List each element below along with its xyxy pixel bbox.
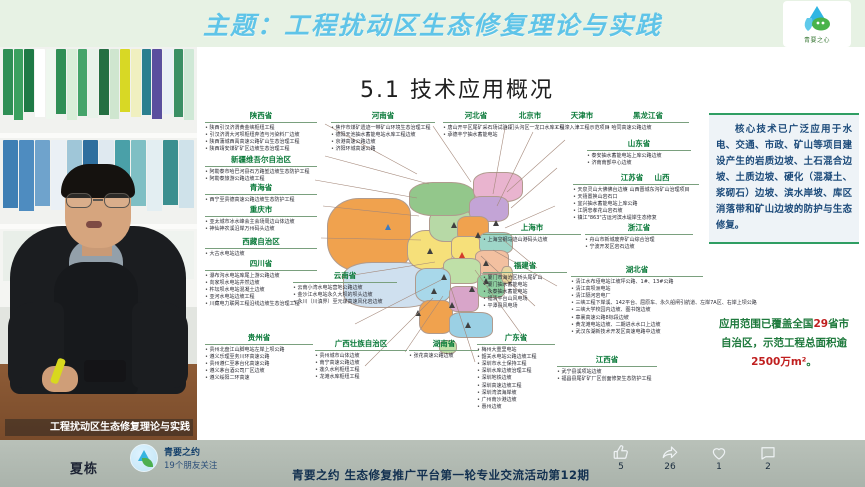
- list-item: 大古水电站边坡: [205, 251, 317, 258]
- list-item: 厦门抽水蓄能电站: [483, 282, 567, 289]
- callout-henan: 河南省 焦作市煤矿遗迹一带矿山环境生态治理工程 德阳天池抽水蓄能电站水库工程边坡…: [331, 110, 435, 153]
- list-item: 承德丰宁抽水蓄能电站: [443, 132, 509, 139]
- list-item: 云南小湾水电站营地公路边坡: [293, 285, 397, 292]
- speaker-figure: [8, 126, 188, 394]
- list-item: 深圳湾滨海岸坡: [477, 390, 555, 397]
- channel-name: 青要之约: [164, 445, 217, 458]
- list-item: 焦作市煤矿遗迹一带矿山环境生态治理工程: [331, 125, 435, 132]
- list-item: 深圳高速边坡工程: [477, 383, 555, 390]
- core-technology-panel: 核心技术已广泛应用于水电、交通、市政、矿山等项目建设产生的岩质边坡、土石混合边坡…: [709, 113, 859, 244]
- presentation-slide[interactable]: 5.1 技术应用概况: [197, 47, 865, 440]
- coverage-text: 应用范围已覆盖全国29省市自治区，示范工程总面积逾2500万m²。: [715, 315, 853, 372]
- list-item: 济阳环城高速公路: [331, 146, 435, 153]
- callout-hubei: 湖北省 清江水布垭电站江坡坪公路、1#、13#公路 清江高坝洲电站 清江隔河岩电…: [571, 264, 703, 336]
- thumbs-up-button[interactable]: 5: [612, 444, 630, 462]
- list-item: 三峡大学校园内边坡、图书馆边坡: [571, 307, 703, 314]
- avatar[interactable]: [130, 444, 158, 472]
- list-item: 韶关水电站公路边坡工程: [477, 354, 555, 361]
- list-item: 遵义乐理至务川环高速公路: [205, 354, 313, 361]
- comment-count: 2: [758, 462, 778, 472]
- list-item: 泰安抽水蓄能电站上库公路边坡: [587, 153, 691, 160]
- list-item: 西宁至贵德高速公路边坡生态防护工程: [205, 197, 317, 204]
- list-item: 引滦入津工程示范项目: [555, 125, 609, 132]
- callout-xinjiang: 新疆维吾尔自治区 阿勒泰市哈巴河县石方路堑边坡生态防护工程 阿勒泰旅游公路边坡工…: [205, 154, 317, 183]
- callout-jiangsu: 江苏省 天泉灵山大佛佛台边坡 天禧置换山岩石口 宜兴抽水蓄能电站上库公路 江阴忠…: [573, 172, 691, 223]
- coverage-province-count: 29: [813, 318, 828, 330]
- action-bar: 5 26 1 2: [612, 444, 777, 462]
- thumbs-up-count: 5: [611, 462, 631, 472]
- list-item: 亚太城市冰水峰会主会场周边山体边坡: [205, 219, 317, 226]
- callout-qinghai: 青海省 西宁至贵德高速公路边坡生态防护工程: [205, 182, 317, 204]
- list-item: 神仙神农溪沿岸万州码头边坡: [205, 226, 317, 233]
- top-banner: 主题：工程扰动区生态修复理论与实践 青要之心: [0, 0, 865, 47]
- callout-hunan: 湖南省 张花高速公路边坡: [409, 338, 479, 360]
- list-item: 贵州北盘江山脚电站左岸上坝公路: [205, 347, 313, 354]
- list-item: 平潭县风电场: [483, 303, 567, 310]
- event-title: 青要之约 生态修复推广平台第一轮专业交流活动第12期: [292, 467, 590, 483]
- list-item: 贵州城市山体边坡: [315, 353, 407, 360]
- list-item: 舟山市新城废弃矿山综合治理: [585, 237, 693, 244]
- bottom-bar: 夏栋 青要之约 19个朋友关注 青要之约 生态修复推广平台第一轮专业交流活动第1…: [0, 440, 865, 487]
- list-item: 宁波开发区岩石边坡: [585, 244, 693, 251]
- list-item: 龙滩水库枢纽工程: [315, 374, 407, 381]
- right-arm: [132, 302, 188, 388]
- callout-guangxi: 广西壮族自治区 贵州城市山体边坡 南宁高速公路边坡 莲久水利枢纽工程 龙滩水库枢…: [315, 338, 407, 381]
- coverage-end: 。: [806, 356, 817, 368]
- list-item: 引汉济渭大河坝枢纽弃渣与污染料厂边坡: [205, 132, 317, 139]
- list-item: 南宁高速公路边坡: [315, 360, 407, 367]
- callout-beijing: 北京市 门头沟区一龙口水库工程: [505, 110, 555, 132]
- presenter-name: 夏栋: [70, 458, 98, 477]
- livestream-screen: 主题：工程扰动区生态修复理论与实践 青要之心: [0, 0, 865, 487]
- list-item: 永川（川滇界）至元谋高速风化岩边坡: [293, 299, 397, 306]
- coverage-area: 2500万m²: [751, 356, 806, 368]
- callout-guizhou: 贵州省 贵州北盘江山脚电站左岸上坝公路 遵义乐理至务川环高速公路 贵州遵仁至茅台…: [205, 332, 313, 383]
- mouth: [86, 221, 102, 228]
- phone-on-desk: [84, 360, 126, 382]
- callout-heilongjiang: 黑龙江省 哈同高速公路边坡: [607, 110, 689, 132]
- comment-button[interactable]: 2: [759, 444, 777, 462]
- list-item: 天禧置换山岩石口: [573, 194, 691, 201]
- brand-logo: 青要之心: [783, 1, 851, 47]
- list-item: 金沙江水电站永久大坝的坝头边坡: [293, 292, 397, 299]
- video-caption: 工程扰动区生态修复理论与实践: [5, 419, 193, 436]
- callout-hebei: 河北省 唐山开平区尾矿采石场试验段 承德丰宁抽水蓄能电站: [443, 110, 509, 139]
- callout-chongqing: 重庆市 亚太城市冰水峰会主会场周边山体边坡 神仙神农溪沿岸万州码头边坡: [205, 204, 317, 233]
- list-item: 武汉东湖新技术开发区高速电路中边坡: [571, 329, 703, 336]
- list-item: 德阳天池抽水蓄能电站水库工程边坡: [331, 132, 435, 139]
- slide-title: 5.1 技术应用概况: [197, 72, 717, 104]
- list-item: 深圳地铁边坡: [477, 375, 555, 382]
- list-item: 陕西靖安煤矿矿区边坡生态治理工程: [205, 146, 317, 153]
- callout-xizang: 西藏自治区 大古水电站边坡: [205, 236, 317, 258]
- callout-shaanxi: 陕西省 陕西引汉济渭黄金峡枢纽工程 引汉济渭大河坝枢纽弃渣与污染料厂边坡 陕西蒲…: [205, 110, 317, 153]
- list-item: 清江水布垭电站江坡坪公路、1#、13#公路: [571, 279, 703, 286]
- coverage-panel: 应用范围已覆盖全国29省市自治区，示范工程总面积逾2500万m²。: [709, 309, 859, 379]
- list-item: 济南南部中心边坡: [587, 160, 691, 167]
- shelf-top: [0, 47, 197, 133]
- list-item: 黄龙滩电站边坡、二期进水水口上边坡: [571, 322, 703, 329]
- list-item: 唐山开平区尾矿采石场试验段: [443, 125, 509, 132]
- coverage-pre: 应用范围已覆盖全国: [719, 318, 814, 330]
- list-item: 陕西引汉济渭黄金峡枢纽工程: [205, 125, 317, 132]
- china-distribution-map: 陕西省 陕西引汉济渭黄金峡枢纽工程 引汉济渭大河坝枢纽弃渣与污染料厂边坡 陕西蒲…: [205, 110, 705, 432]
- list-item: 章襄高速公路8标段边坡: [571, 315, 703, 322]
- speaker-video[interactable]: 工程扰动区生态修复理论与实践: [0, 47, 197, 440]
- callout-jiangxi: 江西省 武宁县溪项站边坡 福昌县尾矿矿厂区创面修复生态防护工程: [557, 354, 657, 383]
- list-item: 张花高速公路边坡: [409, 353, 479, 360]
- logo-caption: 青要之心: [804, 35, 830, 44]
- callout-shanghai: 上海市 上海宝钢马迹山港码头边坡: [483, 222, 581, 244]
- list-item: 上海宝钢马迹山港码头边坡: [483, 237, 581, 244]
- list-item: 遵义绥阳二环高速: [205, 375, 313, 382]
- share-button[interactable]: 26: [661, 444, 679, 462]
- list-item: 清江高坝洲电站: [571, 286, 703, 293]
- list-item: 厦门市海沧区桥头尾矿山: [483, 275, 567, 282]
- like-heart-button[interactable]: 1: [710, 444, 728, 462]
- callout-zhejiang: 浙江省 舟山市新城废弃矿山综合治理 宁波开发区岩石边坡: [585, 222, 693, 251]
- list-item: 惠州边坡: [477, 404, 555, 411]
- glasses-icon: [65, 193, 131, 208]
- list-item: 哈同高速公路边坡: [607, 125, 689, 132]
- list-item: 福昌县尾矿矿厂区创面修复生态防护工程: [557, 376, 657, 383]
- list-item: 天泉灵山大佛佛台边坡: [573, 187, 691, 194]
- callout-shandong: 山东省 泰安抽水蓄能电站上库公路边坡 济南南部中心边坡: [587, 138, 691, 167]
- list-item: 门头沟区一龙口水库工程: [505, 125, 555, 132]
- list-item: 武宁县溪项站边坡: [557, 369, 657, 376]
- share-count: 26: [660, 462, 680, 472]
- channel-followers: 19个朋友关注: [164, 459, 217, 471]
- banner-title: 主题：工程扰动区生态修复理论与实践: [203, 6, 662, 42]
- mountain-leaf-logo-icon: [799, 4, 835, 34]
- list-item: 阿勒泰市哈巴河县石方路堑边坡生态防护工程: [205, 169, 317, 176]
- callout-yunnan: 云南省 云南小湾水电站营地公路边坡 金沙江水电站永久大坝的坝头边坡 永川（川滇界…: [293, 270, 397, 306]
- heart-count: 1: [709, 462, 729, 472]
- callout-tianjin: 天津市 引滦入津工程示范项目: [555, 110, 609, 132]
- channel-info[interactable]: 青要之约 19个朋友关注: [130, 444, 217, 472]
- callout-guangdong: 广东省 梅州大重里电站 韶关水电站公路边坡工程 深圳市水土保持工程 深圳水库边坡…: [477, 332, 555, 411]
- list-item: 梅州大重里电站: [477, 347, 555, 354]
- core-technology-text: 核心技术已广泛应用于水电、交通、市政、矿山等项目建设产生的岩质边坡、土石混合边坡…: [716, 122, 852, 234]
- callout-fujian: 福建省 厦门市海沧区桥头尾矿山 厦门抽水蓄能电站 永泰抽水蓄能电站 福清平台山风…: [483, 260, 567, 311]
